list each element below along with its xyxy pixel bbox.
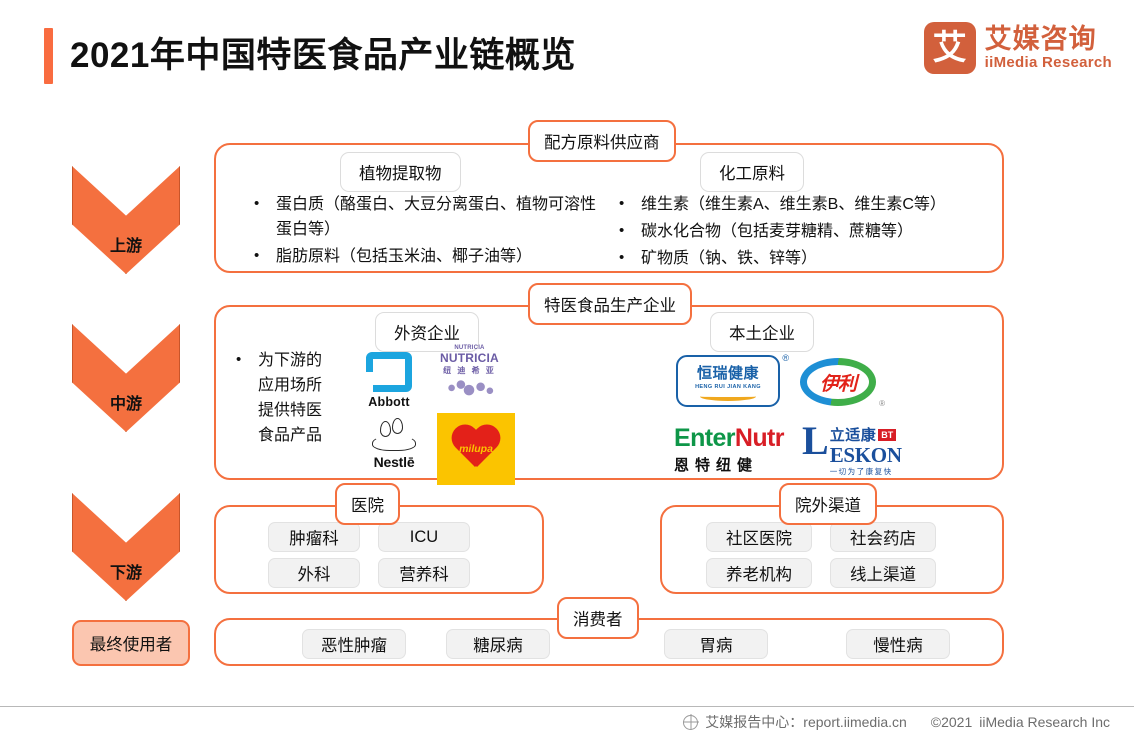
hospital-item-surgery[interactable]: 外科 (268, 558, 360, 588)
offsite-item-online-channel[interactable]: 线上渠道 (830, 558, 936, 588)
enternutr-logo-cn: 恩特纽健 (674, 454, 758, 475)
upstream-right-bullets: 维生素（维生素A、维生素B、维生素C等） 碳水化合物（包括麦芽糖精、蔗糖等） 矿… (615, 192, 990, 273)
consumer-item-cancer[interactable]: 恶性肿瘤 (302, 629, 406, 659)
page-title: 2021年中国特医食品产业链概览 (70, 28, 576, 84)
consumer-badge: 消费者 (557, 597, 639, 639)
footer-divider (0, 706, 1134, 707)
leskon-wordmark: L 立适康 BT ESKON 一切为了康复快 (802, 424, 902, 477)
milupa-logo-label: milupa (450, 443, 502, 455)
hengrui-shield-icon: 恒瑞健康 HENG RUI JIAN KANG ® (676, 355, 780, 407)
hospital-item-oncology[interactable]: 肿瘤科 (268, 522, 360, 552)
yili-registered-icon: ® (879, 399, 885, 408)
upstream-badge: 配方原料供应商 (528, 120, 676, 162)
brand-name-en: iiMedia Research (985, 54, 1112, 72)
final-user-badge: 最终使用者 (72, 620, 190, 666)
milupa-logo-box: milupa (437, 413, 515, 485)
hengrui-logo-pinyin: HENG RUI JIAN KANG (695, 384, 761, 390)
footer-copyright: ©2021 (931, 714, 972, 730)
enternutr-logo: EnterNutr 恩特纽健 (674, 424, 784, 475)
nestle-nest-icon (366, 415, 422, 453)
midstream-domestic-tag: 本土企业 (710, 312, 814, 352)
midstream-description-line: 应用场所 (258, 373, 342, 398)
nutricia-logo-label: NUTRICIA (440, 351, 499, 365)
brand-logo: 艾 艾媒咨询 iiMedia Research (924, 22, 1112, 74)
consumer-item-diabetes[interactable]: 糖尿病 (446, 629, 550, 659)
hengrui-logo: 恒瑞健康 HENG RUI JIAN KANG ® (676, 355, 780, 407)
offsite-item-community-hospital[interactable]: 社区医院 (706, 522, 812, 552)
consumer-item-stomach[interactable]: 胃病 (664, 629, 768, 659)
enternutr-wordmark: EnterNutr (674, 424, 784, 453)
nestle-logo: Nestlē (366, 415, 422, 470)
leskon-logo: L 立适康 BT ESKON 一切为了康复快 (802, 424, 902, 477)
hengrui-logo-label: 恒瑞健康 (697, 362, 759, 383)
hospital-badge: 医院 (335, 483, 400, 525)
upstream-plant-extract-tag: 植物提取物 (340, 152, 461, 192)
list-item: 蛋白质（酪蛋白、大豆分离蛋白、植物可溶性蛋白等） (250, 192, 610, 242)
leskon-slogan: 一切为了康复快 (830, 466, 902, 477)
leskon-bt-badge: BT (878, 429, 896, 441)
yili-oval-icon: 伊利 ® (800, 358, 876, 406)
nutricia-globe-icon (440, 378, 498, 400)
abbott-a-icon (366, 352, 412, 392)
enternutr-logo-label-1: Enter (674, 424, 735, 453)
stage-arrow-midstream: 中游 (72, 324, 180, 432)
stage-arrow-upstream: 上游 (72, 166, 180, 274)
brand-text: 艾媒咨询 iiMedia Research (985, 24, 1112, 72)
hospital-item-icu[interactable]: ICU (378, 522, 470, 552)
infographic-page: 2021年中国特医食品产业链概览 艾 艾媒咨询 iiMedia Research… (0, 0, 1134, 737)
offsite-item-elderly-care[interactable]: 养老机构 (706, 558, 812, 588)
leskon-logo-label: ESKON (830, 445, 902, 465)
nestle-logo-label: Nestlē (374, 454, 415, 470)
list-item: 矿物质（钠、铁、锌等） (615, 246, 990, 271)
midstream-description-line: 为下游的 (258, 348, 342, 373)
list-item: 脂肪原料（包括玉米油、椰子油等） (250, 244, 610, 269)
hospital-item-nutrition[interactable]: 营养科 (378, 558, 470, 588)
midstream-description-line: 食品产品 (258, 423, 342, 448)
globe-icon (683, 715, 698, 730)
leskon-right-block: 立适康 BT ESKON 一切为了康复快 (830, 424, 902, 477)
nutricia-logo: NUTRICIA NUTRICIA 纽 迪 希 亚 (440, 345, 499, 400)
hengrui-registered-icon: ® (782, 353, 789, 363)
midstream-description-line: 提供特医 (258, 398, 342, 423)
page-footer: 艾媒报告中心：report.iimedia.cn ©2021 iiMedia R… (0, 712, 1134, 732)
abbott-logo-label: Abbott (368, 395, 409, 409)
midstream-description: 为下游的 应用场所 提供特医 食品产品 (232, 348, 342, 448)
enternutr-logo-label-2: Nutr (735, 424, 784, 453)
footer-company: iiMedia Research Inc (979, 714, 1110, 730)
milupa-logo: milupa (437, 413, 515, 485)
offsite-channel-badge: 院外渠道 (779, 483, 877, 525)
list-item: 维生素（维生素A、维生素B、维生素C等） (615, 192, 990, 217)
midstream-badge: 特医食品生产企业 (528, 283, 692, 325)
yili-logo-label: 伊利 (820, 369, 856, 396)
brand-mark-icon: 艾 (924, 22, 976, 74)
page-header: 2021年中国特医食品产业链概览 艾 艾媒咨询 iiMedia Research (0, 0, 1134, 100)
yili-logo: 伊利 ® (800, 358, 876, 406)
nutricia-cn-label: 纽 迪 希 亚 (443, 365, 496, 376)
footer-report-center: 艾媒报告中心：report.iimedia.cn (705, 712, 907, 732)
abbott-logo: Abbott (366, 352, 412, 409)
upstream-left-bullets: 蛋白质（酪蛋白、大豆分离蛋白、植物可溶性蛋白等） 脂肪原料（包括玉米油、椰子油等… (250, 192, 610, 271)
stage-arrow-upstream-label: 上游 (110, 232, 142, 273)
leskon-top-row: 立适康 BT (830, 424, 902, 445)
title-accent-bar (44, 28, 53, 84)
leskon-initial-icon: L (802, 424, 829, 458)
milupa-heart-icon: milupa (450, 426, 502, 472)
leskon-logo-cn: 立适康 (830, 424, 877, 445)
upstream-chemical-tag: 化工原料 (700, 152, 804, 192)
list-item: 碳水化合物（包括麦芽糖精、蔗糖等） (615, 219, 990, 244)
stage-arrow-downstream-label: 下游 (110, 559, 142, 600)
yili-inner-oval: 伊利 (807, 365, 869, 399)
consumer-item-chronic[interactable]: 慢性病 (846, 629, 950, 659)
stage-arrow-downstream: 下游 (72, 493, 180, 601)
brand-name-cn: 艾媒咨询 (985, 24, 1112, 54)
stage-arrow-midstream-label: 中游 (110, 390, 142, 431)
hengrui-swoosh-icon (700, 392, 756, 401)
offsite-item-pharmacy[interactable]: 社会药店 (830, 522, 936, 552)
